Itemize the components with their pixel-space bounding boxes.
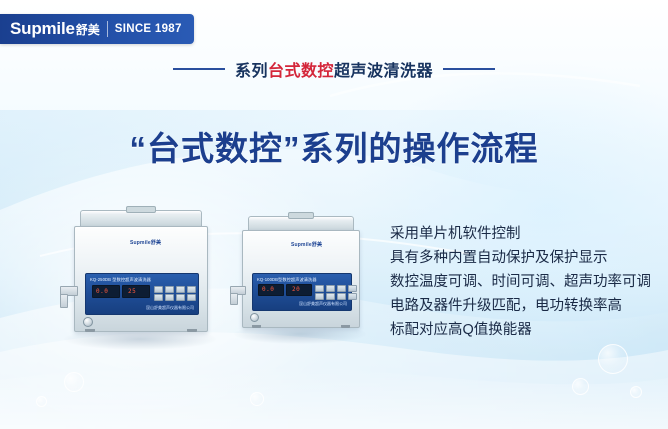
bubble-decoration xyxy=(64,372,84,392)
panel-button-stop[interactable] xyxy=(337,293,346,300)
display-time-value: 0.0 xyxy=(262,285,274,294)
machine-brand-mark: Supmile舒美 xyxy=(291,241,322,248)
ultrasonic-cleaner-right: Supmile舒美 KQ-100DB型数控超声波清洗器 昆山舒美超声仪器有限公司… xyxy=(230,212,370,342)
rule-right xyxy=(443,68,495,70)
panel-button-row-secondary[interactable] xyxy=(315,293,357,300)
panel-model-label: KQ-250DB 型数控超声波清洗器 xyxy=(90,277,151,283)
bubble-decoration xyxy=(630,386,642,398)
display-time-value: 0.0 xyxy=(96,287,108,296)
machine-body: Supmile舒美 KQ-100DB型数控超声波清洗器 昆山舒美超声仪器有限公司… xyxy=(242,230,360,328)
display-temperature-value: 25 xyxy=(128,287,136,296)
machine-foot-left xyxy=(85,329,95,332)
subtitle-text: 系列台式数控超声波清洗器 xyxy=(235,57,433,81)
power-knob[interactable] xyxy=(250,313,259,322)
panel-button-down-1[interactable] xyxy=(326,285,335,292)
panel-button-start[interactable] xyxy=(326,293,335,300)
page-title: “台式数控”系列的操作流程 xyxy=(0,122,668,170)
panel-button-start[interactable] xyxy=(165,294,174,301)
brand-logo-cn: 舒美 xyxy=(76,21,100,38)
panel-button-mode[interactable] xyxy=(187,294,196,301)
panel-button-down-1[interactable] xyxy=(165,286,174,293)
feature-item: 具有多种内置自动保护及保护显示 xyxy=(390,246,660,270)
feature-item: 数控温度可调、时间可调、超声功率可调 xyxy=(390,270,660,294)
slide-root: Supmile 舒美 SINCE 1987 系列台式数控超声波清洗器 “台式数控… xyxy=(0,0,668,429)
bubble-decoration xyxy=(598,344,628,374)
control-panel: KQ-100DB型数控超声波清洗器 昆山舒美超声仪器有限公司 0.0 20 xyxy=(252,273,352,311)
panel-button-mode[interactable] xyxy=(348,293,357,300)
logo-divider xyxy=(107,21,108,37)
rule-left xyxy=(173,68,225,70)
machine-body: Supmile舒美 KQ-250DB 型数控超声波清洗器 昆山舒美超声仪器有限公… xyxy=(74,226,208,332)
display-temperature: 20 xyxy=(286,284,312,296)
panel-button-down-2[interactable] xyxy=(187,286,196,293)
panel-button-row[interactable] xyxy=(315,285,357,292)
bubble-decoration xyxy=(36,396,47,407)
panel-button-row[interactable] xyxy=(154,286,196,293)
subtitle-suffix: 超声波清洗器 xyxy=(334,63,433,80)
panel-button-row-secondary[interactable] xyxy=(154,294,196,301)
panel-button-up-1[interactable] xyxy=(154,286,163,293)
display-temperature-value: 20 xyxy=(292,285,300,294)
subtitle-row: 系列台式数控超声波清洗器 xyxy=(0,57,668,81)
machine-foot-left xyxy=(252,325,261,328)
panel-brand-label: 昆山舒美超声仪器有限公司 xyxy=(299,301,347,307)
panel-button-set[interactable] xyxy=(154,294,163,301)
lid-handle xyxy=(126,206,156,213)
brand-since-label: SINCE 1987 xyxy=(115,23,182,35)
display-time: 0.0 xyxy=(258,284,284,296)
subtitle-prefix: 系列 xyxy=(235,63,268,80)
panel-button-up-2[interactable] xyxy=(176,286,185,293)
feature-list: 采用单片机软件控制 具有多种内置自动保护及保护显示 数控温度可调、时间可调、超声… xyxy=(390,222,660,342)
feature-item: 采用单片机软件控制 xyxy=(390,222,660,246)
lid-handle xyxy=(288,212,314,219)
panel-button-set[interactable] xyxy=(315,293,324,300)
machine-foot-right xyxy=(341,325,350,328)
ultrasonic-cleaner-left: Supmile舒美 KQ-250DB 型数控超声波清洗器 昆山舒美超声仪器有限公… xyxy=(60,206,220,346)
panel-brand-label: 昆山舒美超声仪器有限公司 xyxy=(146,305,194,311)
bubble-decoration xyxy=(572,378,589,395)
subtitle-highlight: 台式数控 xyxy=(268,63,334,80)
display-temperature: 25 xyxy=(122,285,150,298)
panel-button-up-1[interactable] xyxy=(315,285,324,292)
machine-foot-right xyxy=(187,329,197,332)
feature-item: 电路及器件升级匹配，电功转换率高 xyxy=(390,294,660,318)
drain-spout xyxy=(60,294,68,308)
panel-button-stop[interactable] xyxy=(176,294,185,301)
power-knob[interactable] xyxy=(83,317,93,327)
brand-logo-name: Supmile xyxy=(10,19,75,39)
control-panel: KQ-250DB 型数控超声波清洗器 昆山舒美超声仪器有限公司 0.0 25 xyxy=(85,273,199,315)
panel-button-down-2[interactable] xyxy=(348,285,357,292)
bubble-decoration xyxy=(250,392,264,406)
feature-item: 标配对应高Q值换能器 xyxy=(390,318,660,342)
display-time: 0.0 xyxy=(92,285,120,298)
machine-brand-mark: Supmile舒美 xyxy=(130,239,161,246)
panel-model-label: KQ-100DB型数控超声波清洗器 xyxy=(257,277,317,283)
panel-button-up-2[interactable] xyxy=(337,285,346,292)
drain-spout xyxy=(230,293,238,305)
brand-logo: Supmile 舒美 SINCE 1987 xyxy=(0,14,194,44)
